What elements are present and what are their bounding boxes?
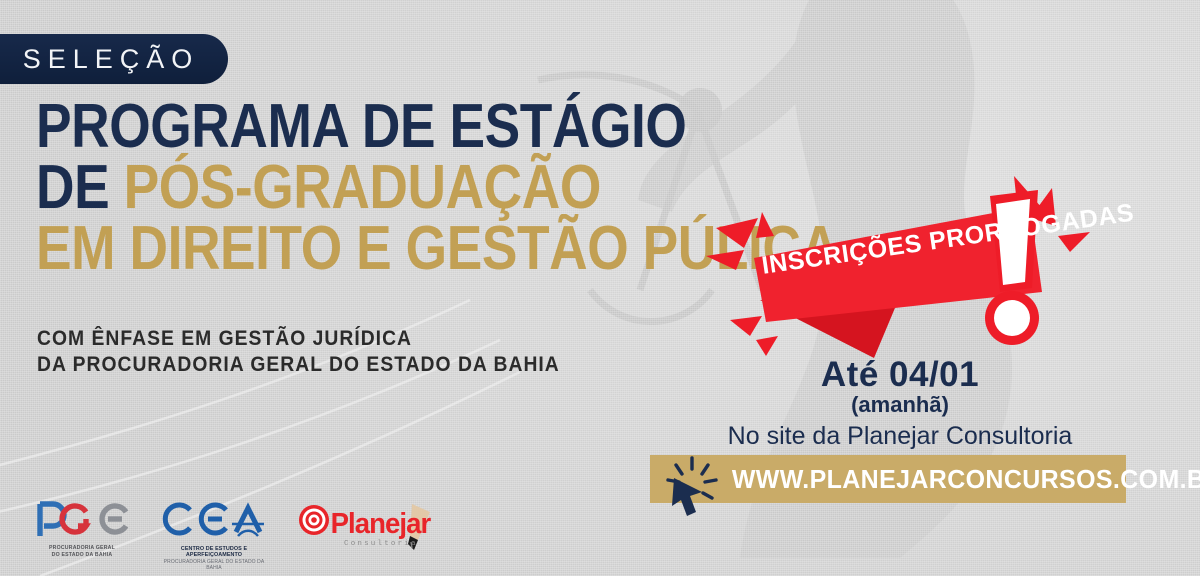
subtitle-line-1: COM ÊNFASE EM GESTÃO JURÍDICA (37, 326, 560, 352)
cea-caption-line-1: CENTRO DE ESTUDOS E APERFEIÇOAMENTO (158, 546, 270, 558)
cea-mark (158, 500, 270, 540)
deadline-where: No site da Planejar Consultoria (660, 422, 1140, 451)
logo-pge: PROCURADORIA GERAL DO ESTADO DA BAHIA (34, 500, 130, 559)
spark-burst-bottom-left (730, 316, 778, 356)
cea-caption-line-2: PROCURADORIA GERAL DO ESTADO DA BAHIA (158, 559, 270, 571)
headline-line-2-prefix: DE (36, 153, 124, 222)
selecao-badge: SELEÇÃO (0, 34, 228, 84)
pge-caption: PROCURADORIA GERAL DO ESTADO DA BAHIA (34, 545, 130, 559)
cursor-arrow (672, 478, 702, 516)
headline-line-2: DE PÓS-GRADUAÇÃO (36, 159, 638, 216)
ribbon-callout: INSCRIÇÕES PRORROGADAS (700, 170, 1120, 360)
headline-line-1: PROGRAMA DE ESTÁGIO (36, 98, 638, 155)
subtitle-block: COM ÊNFASE EM GESTÃO JURÍDICA DA PROCURA… (37, 326, 560, 379)
headline-block: PROGRAMA DE ESTÁGIO DE PÓS-GRADUAÇÃO EM … (36, 98, 736, 277)
promotional-banner: SELEÇÃO PROGRAMA DE ESTÁGIO DE PÓS-GRADU… (0, 0, 1200, 576)
planejar-wordmark: Planejar (331, 508, 431, 541)
planejar-caption: Consultoria (344, 540, 418, 548)
logo-row: PROCURADORIA GERAL DO ESTADO DA BAHIA CE… (34, 500, 438, 571)
deadline-note: (amanhã) (700, 392, 1100, 418)
url-text: WWW.PLANEJARCONCURSOS.COM.BR (732, 464, 1108, 495)
deadline-date: Até 04/01 (700, 355, 1100, 395)
selecao-badge-label: SELEÇÃO (23, 44, 200, 75)
target-spiral-icon (299, 505, 329, 535)
headline-line-2-highlight: PÓS-GRADUAÇÃO (124, 153, 601, 222)
pge-mark (34, 500, 130, 538)
logo-planejar: Planejar Consultoria (298, 500, 438, 557)
headline-line-3: EM DIREITO E GESTÃO PÚLICA (36, 220, 638, 277)
logo-cea: CENTRO DE ESTUDOS E APERFEIÇOAMENTO PROC… (158, 500, 270, 571)
subtitle-line-2: DA PROCURADORIA GERAL DO ESTADO DA BAHIA (37, 352, 560, 378)
cursor-click-icon (662, 456, 724, 520)
